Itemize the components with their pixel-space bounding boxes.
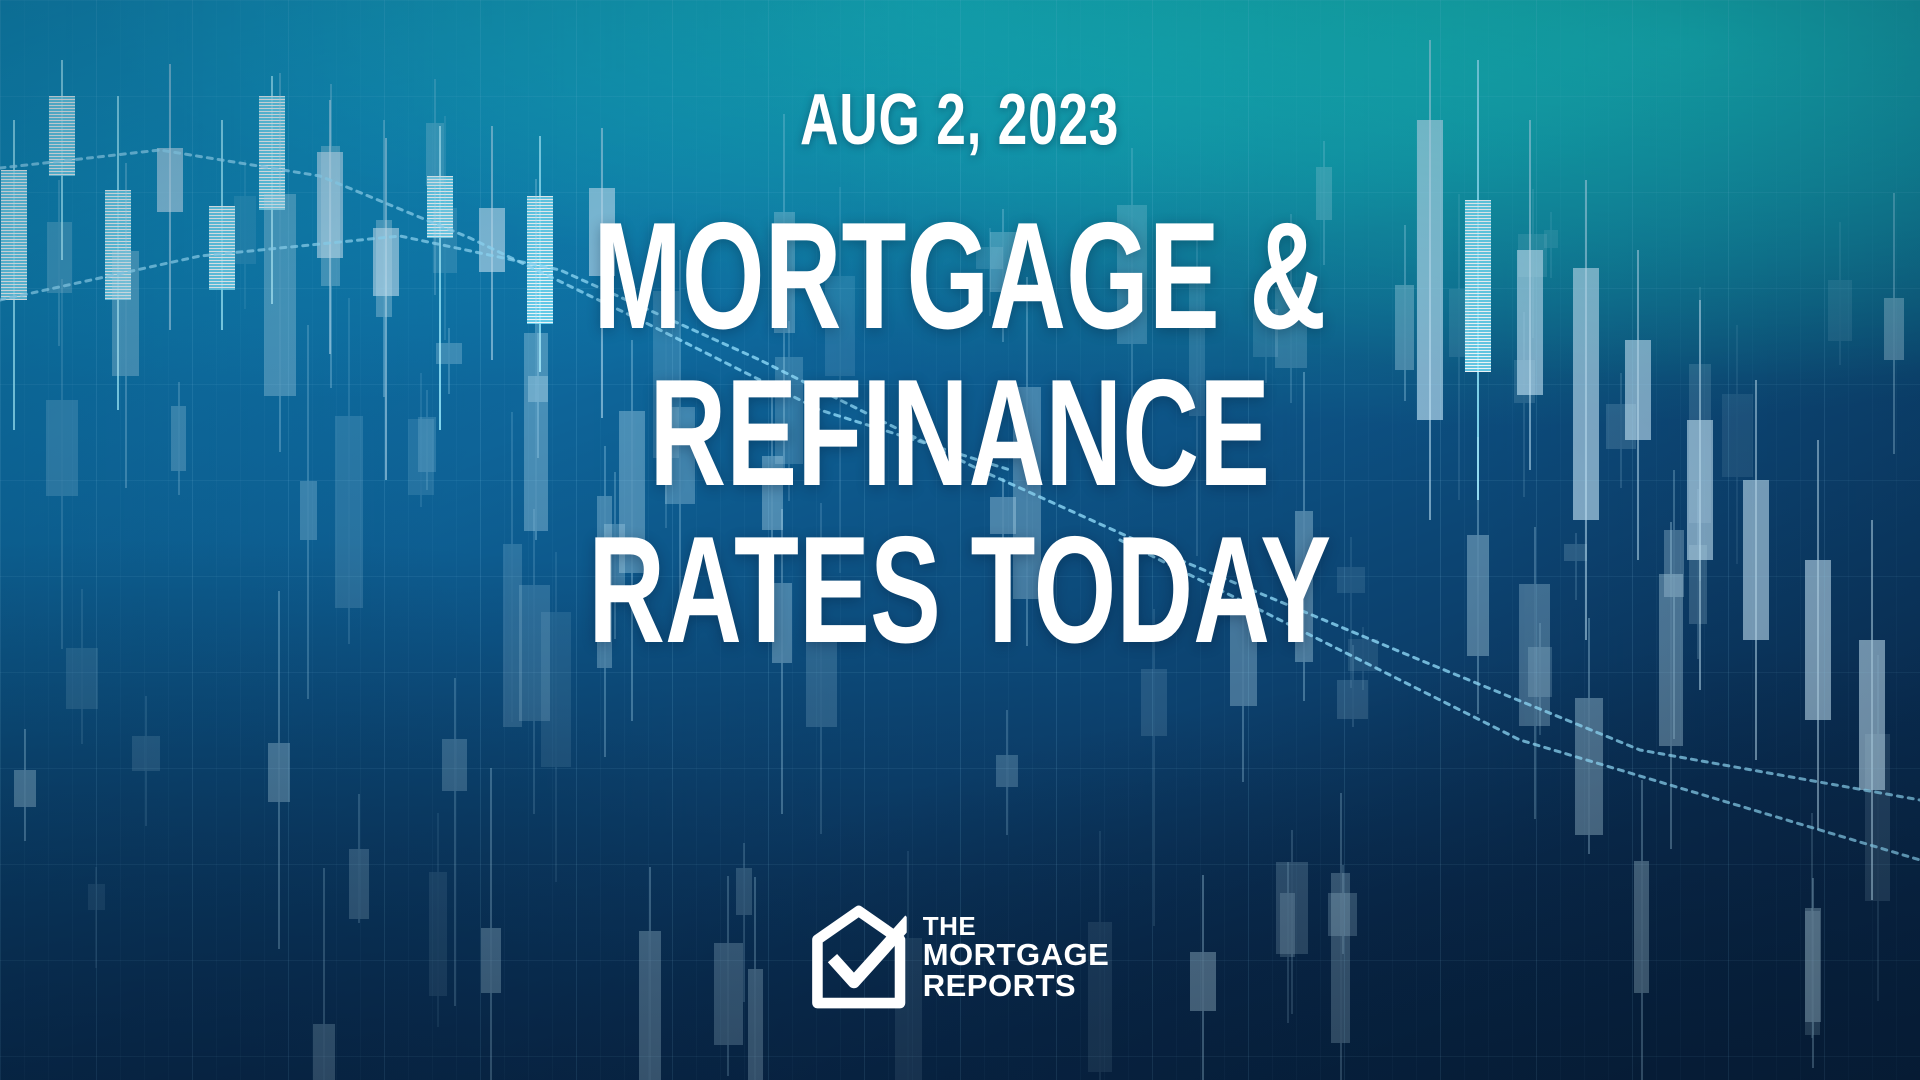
hero-graphic: AUG 2, 2023 MORTGAGE & REFINANCE RATES T…	[0, 0, 1920, 1080]
brand-wordmark: THE MORTGAGE REPORTS	[923, 913, 1110, 1001]
hero-content: AUG 2, 2023 MORTGAGE & REFINANCE RATES T…	[0, 0, 1920, 1080]
brand-word-reports: REPORTS	[923, 970, 1110, 1001]
headline-line-3: RATES TODAY	[589, 516, 1332, 665]
headline-line-1: MORTGAGE &	[589, 202, 1332, 351]
brand-word-the: THE	[923, 913, 1110, 939]
brand-logo: THE MORTGAGE REPORTS	[811, 905, 1110, 1009]
date-label: AUG 2, 2023	[800, 86, 1119, 154]
headline-line-2: REFINANCE	[589, 359, 1332, 508]
page-title: MORTGAGE & REFINANCE RATES TODAY	[429, 202, 1490, 665]
house-check-logo-icon	[811, 905, 907, 1009]
brand-word-mortgage: MORTGAGE	[923, 939, 1110, 970]
